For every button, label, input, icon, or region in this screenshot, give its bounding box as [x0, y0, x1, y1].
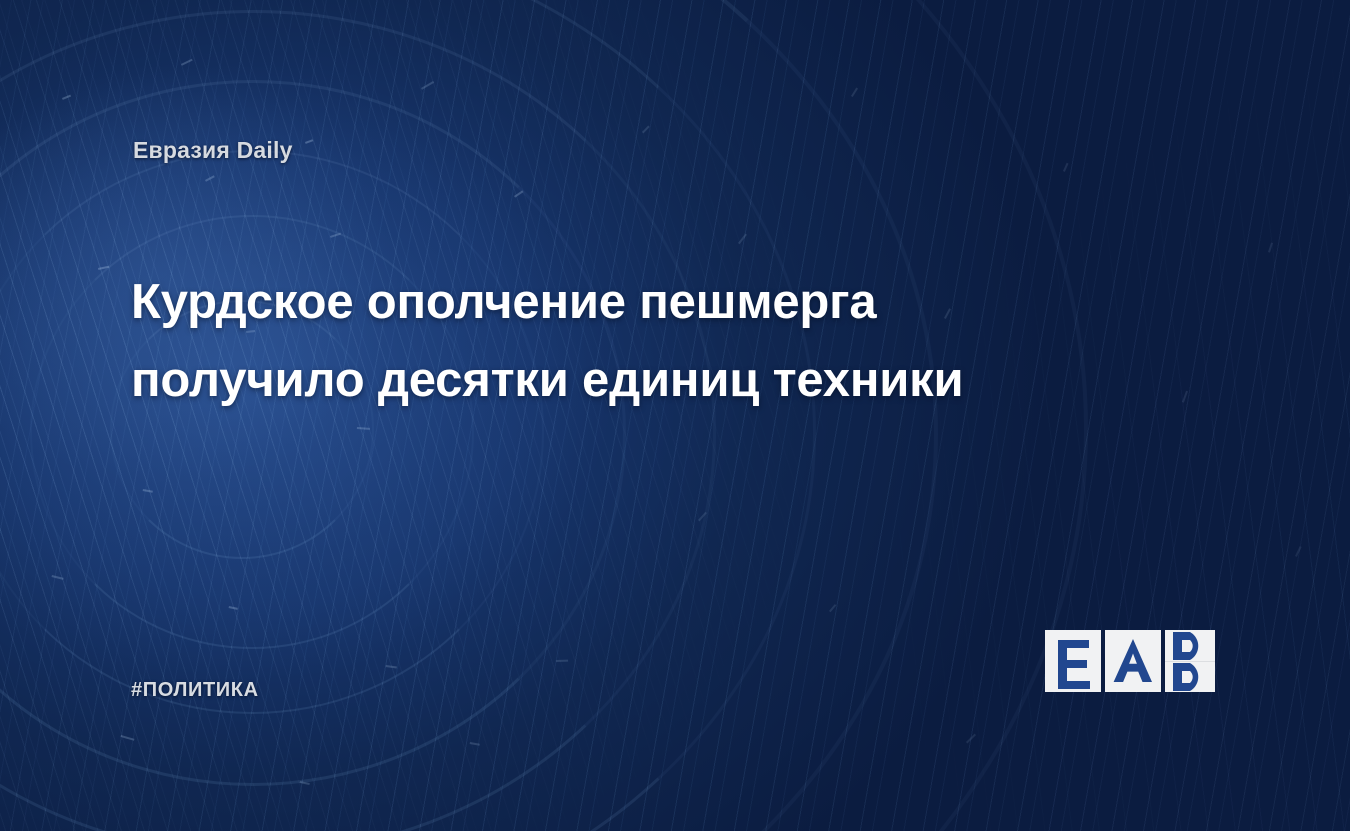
- category-tag: #ПОЛИТИКА: [131, 679, 259, 702]
- logo-tile-d: [1165, 630, 1215, 692]
- logo-tile-e: [1045, 630, 1101, 692]
- brand-title: Евразия Daily: [133, 137, 293, 164]
- eadaily-logo: [1045, 630, 1220, 695]
- news-card: Евразия Daily Курдское ополчение пешмерг…: [0, 0, 1350, 831]
- logo-tile-a: [1105, 630, 1161, 692]
- page-title: Курдское ополчение пешмерга получило дес…: [131, 263, 1091, 419]
